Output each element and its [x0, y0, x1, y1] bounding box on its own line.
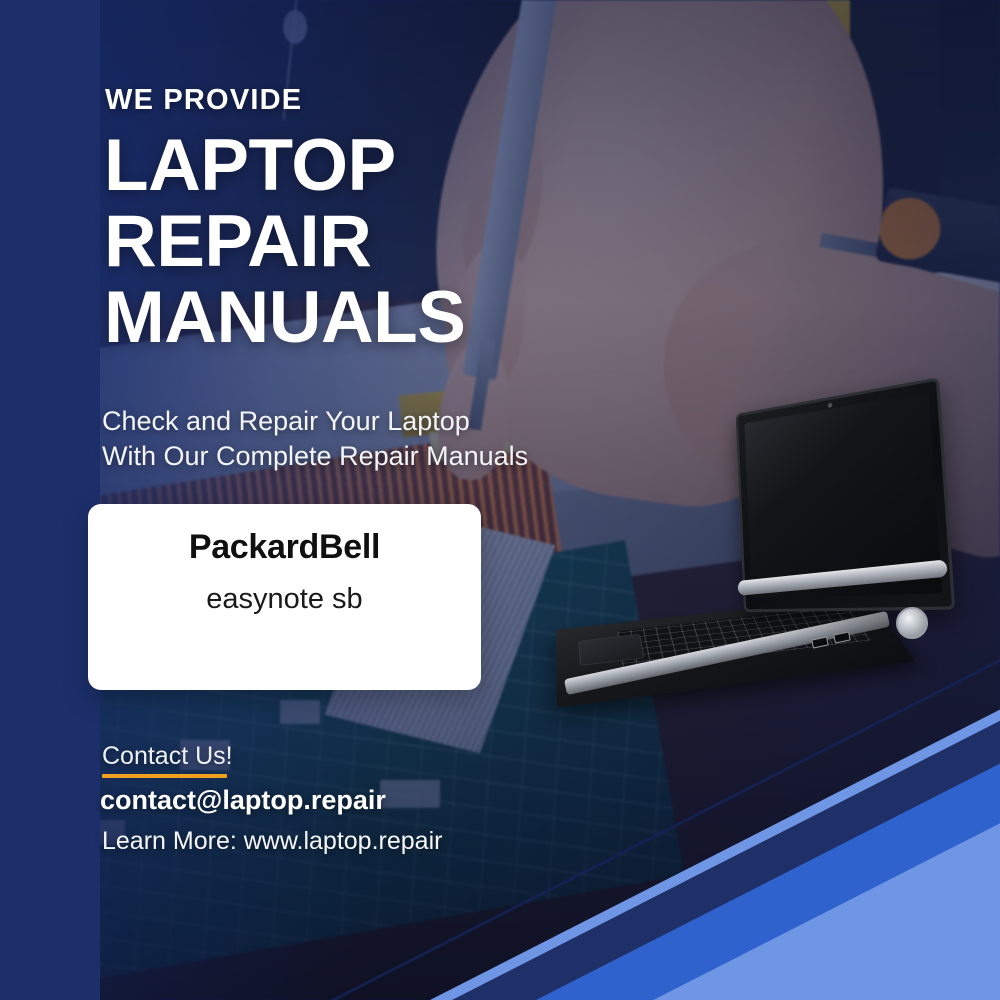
subtitle: Check and Repair Your Laptop With Our Co… [102, 404, 528, 474]
contact-website[interactable]: Learn More: www.laptop.repair [102, 827, 442, 856]
model-name: easynote sb [88, 583, 481, 616]
promo-poster: WE PROVIDE LAPTOP REPAIR MANUALS Check a… [0, 0, 1000, 1000]
headline-line-3: MANUALS [104, 280, 465, 356]
subtitle-line-1: Check and Repair Your Laptop [102, 404, 528, 439]
page-title: LAPTOP REPAIR MANUALS [104, 128, 465, 356]
eyebrow-text: WE PROVIDE [105, 84, 302, 117]
model-brand: PackardBell [88, 528, 481, 567]
contact-email[interactable]: contact@laptop.repair [100, 785, 386, 816]
left-navy-strip [0, 0, 100, 1000]
contact-label: Contact Us! [102, 742, 233, 771]
model-card: PackardBell easynote sb [88, 504, 481, 690]
laptop-product-image [560, 395, 1000, 725]
headline-line-1: LAPTOP [104, 128, 465, 204]
contact-underline-accent [102, 774, 227, 778]
headline-line-2: REPAIR [104, 204, 465, 280]
subtitle-line-2: With Our Complete Repair Manuals [102, 439, 528, 474]
